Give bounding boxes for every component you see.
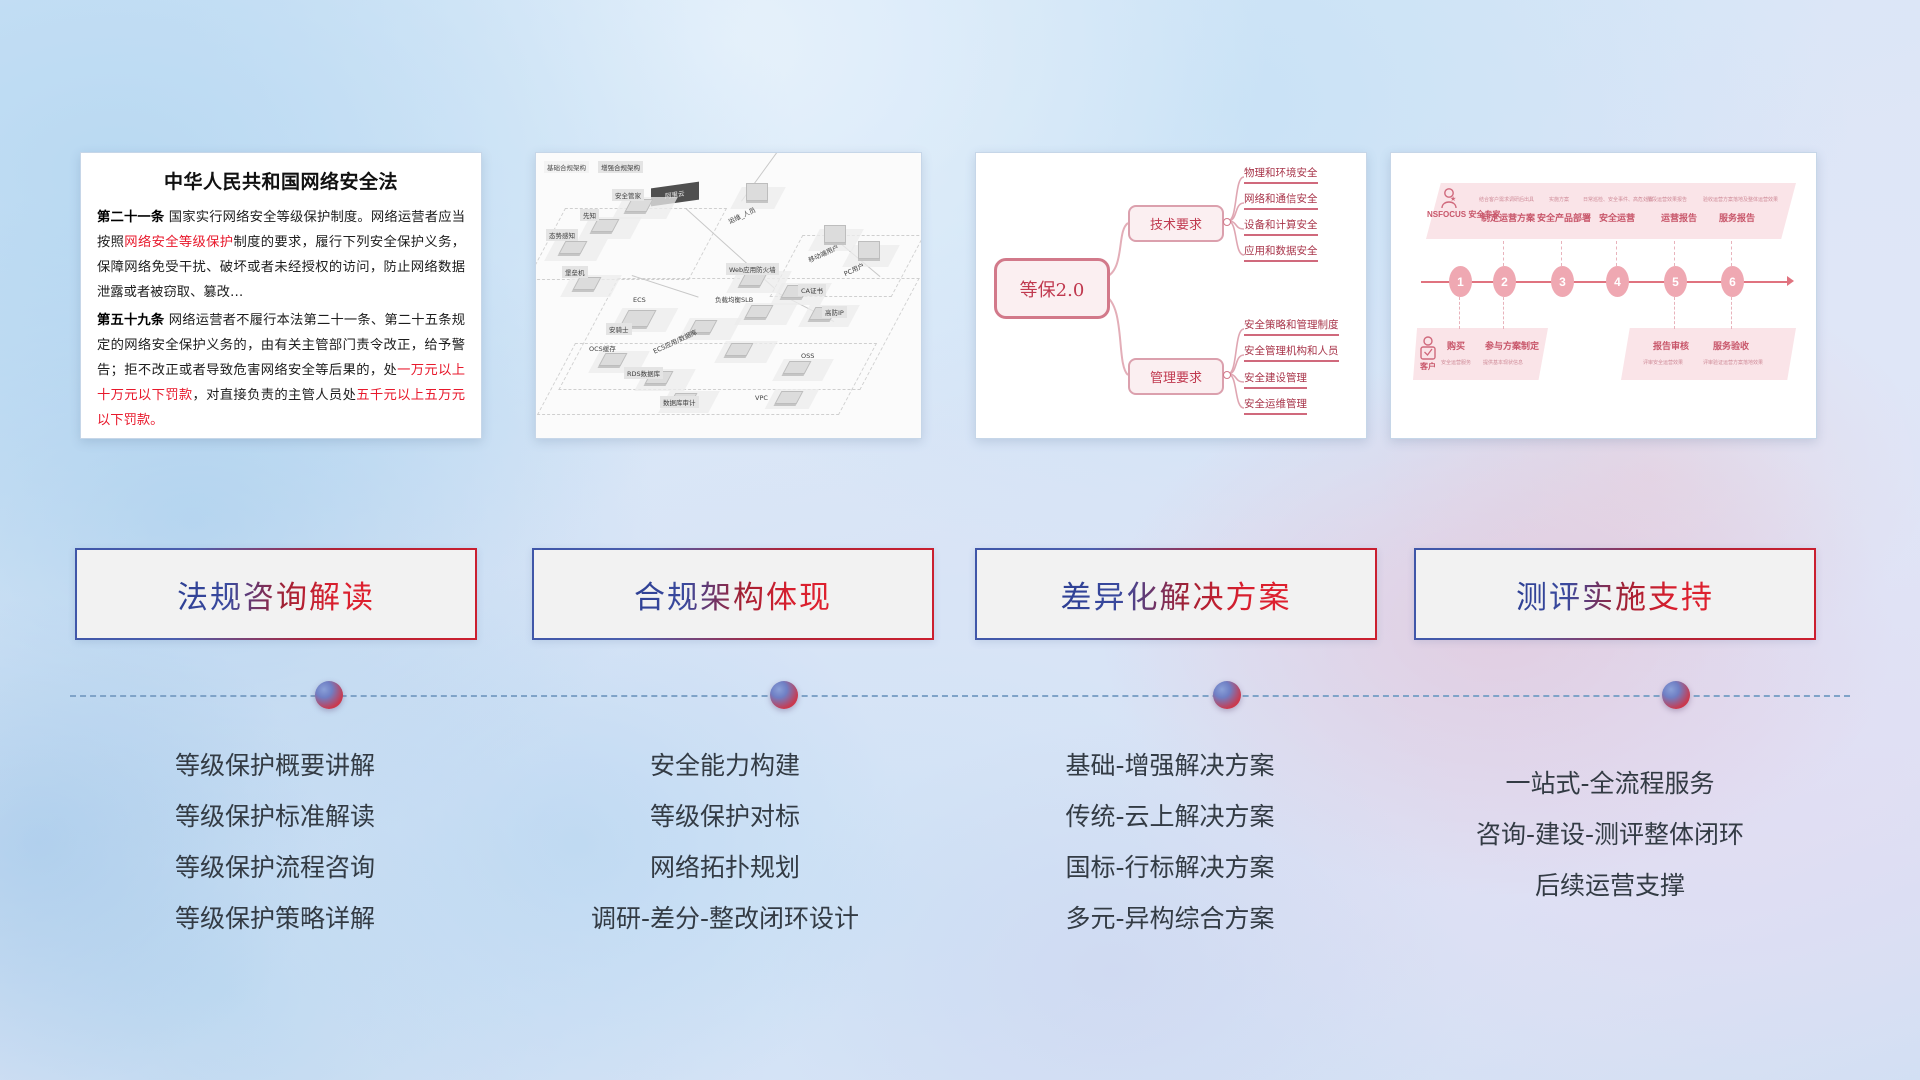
nsfocus-diagram: ★ NSFOCUS 安全专家 客户 1 2 3 4 5 6: [1391, 153, 1816, 438]
bottom-step-label-1: 购买: [1447, 339, 1465, 352]
list-item: 基础-增强解决方案: [950, 740, 1390, 791]
heading-box-architecture[interactable]: 合规架构体现: [532, 548, 934, 640]
node-ca-cert: CA证书: [798, 284, 826, 296]
timeline-node-3[interactable]: [1213, 681, 1241, 709]
node-anqishi: 安骑士: [606, 323, 632, 335]
heading-label-evaluation: 测评实施支持: [1516, 572, 1714, 617]
node-situational-awareness: 态势感知: [546, 229, 578, 241]
timeline-arrow: [1787, 276, 1794, 286]
branch-dot-management: [1223, 371, 1231, 379]
bottom-step-sub-4: 评审验证运营方案落地效果: [1703, 359, 1763, 366]
top-step-label-1: 制定运营方案: [1481, 211, 1535, 224]
top-step-sub-2: 实施方案: [1549, 196, 1569, 203]
branch-dot-technical: [1223, 218, 1231, 226]
step-circle-5: 5: [1664, 266, 1687, 297]
heading-label-solution: 差异化解决方案: [1061, 572, 1292, 617]
column-regulation: 等级保护概要讲解 等级保护标准解读 等级保护流程咨询 等级保护策略详解: [55, 740, 495, 944]
mindmap-branch-management: 管理要求: [1128, 358, 1224, 395]
list-item: 等级保护概要讲解: [55, 740, 495, 791]
cloud-architecture-card: 基础合规架构 增强合规架构 阿里云 态势感知: [535, 152, 922, 439]
law-article-1: 第二十一条: [97, 210, 164, 225]
list-item: 传统-云上解决方案: [950, 791, 1390, 842]
list-item: 等级保护对标: [505, 791, 945, 842]
list-item: 一站式-全流程服务: [1390, 758, 1830, 809]
bottom-step-label-4: 服务验收: [1713, 339, 1749, 352]
law-paragraph-1: 第二十一条 国家实行网络安全等级保护制度。网络运营者应当按照网络安全等级保护制度…: [97, 205, 465, 305]
mindmap-branch-technical: 技术要求: [1128, 205, 1224, 242]
expert-role-label: NSFOCUS 安全专家: [1427, 210, 1473, 220]
top-step-label-4: 运营报告: [1661, 211, 1697, 224]
law-article-2: 第五十九条: [97, 313, 164, 328]
customer-icon: [1417, 335, 1439, 361]
node-rds-db: RDS数据库: [624, 367, 663, 379]
top-step-label-2: 安全产品部署: [1537, 211, 1591, 224]
node-oss: OSS: [798, 351, 817, 361]
timeline: [70, 694, 1850, 698]
node-slb: 负载均衡SLB: [712, 293, 756, 305]
node-vpc: VPC: [752, 393, 771, 403]
customer-band-right: [1621, 328, 1796, 380]
heading-box-evaluation[interactable]: 测评实施支持: [1414, 548, 1816, 640]
heading-box-solution[interactable]: 差异化解决方案: [975, 548, 1377, 640]
bottom-step-label-3: 报告审核: [1653, 339, 1689, 352]
column-architecture: 安全能力构建 等级保护对标 网络拓扑规划 调研-差分-整改闭环设计: [505, 740, 945, 944]
bottom-step-sub-2: 提供基本现状信息: [1483, 359, 1523, 366]
law-seg-2-2: ，对直接负责的主管人员处: [193, 388, 357, 403]
list-item: 等级保护策略详解: [55, 893, 495, 944]
list-item: 后续运营支撑: [1390, 860, 1830, 911]
column-evaluation: 一站式-全流程服务 咨询-建设-测评整体闭环 后续运营支撑: [1390, 758, 1830, 911]
mindmap-diagram: 等保2.0 技术要求 物理和环境安全 网络和通信安全 设备和计算安全 应用和数据…: [976, 153, 1366, 438]
customer-role-label: 客户: [1415, 362, 1441, 372]
top-step-sub-3: 日常巡检、安全事件、高危处置: [1583, 196, 1653, 203]
svg-text:★: ★: [1450, 195, 1456, 203]
leaf-security-org-personnel: 安全管理机构和人员: [1244, 343, 1339, 362]
top-step-sub-1: 结合客户需求调研后出具: [1479, 196, 1534, 203]
mindmap-root: 等保2.0: [994, 258, 1110, 319]
architecture-diagram: 基础合规架构 增强合规架构 阿里云 态势感知: [536, 153, 921, 438]
step-circle-6: 6: [1721, 266, 1744, 297]
expert-icon: ★: [1437, 187, 1461, 209]
list-item: 等级保护标准解读: [55, 791, 495, 842]
node-waf: Web应用防火墙: [726, 263, 779, 275]
top-step-label-5: 服务报告: [1719, 211, 1755, 224]
leaf-app-data-security: 应用和数据安全: [1244, 243, 1318, 262]
timeline-node-2[interactable]: [770, 681, 798, 709]
node-anti-ddos-ip: 高防IP: [822, 306, 847, 318]
bottom-step-label-2: 参与方案制定: [1485, 339, 1539, 352]
leaf-security-build-mgmt: 安全建设管理: [1244, 370, 1307, 389]
list-item: 多元-异构综合方案: [950, 893, 1390, 944]
timeline-node-4[interactable]: [1662, 681, 1690, 709]
tab-enhanced[interactable]: 增强合规架构: [598, 161, 643, 173]
image-cards-row: 中华人民共和国网络安全法 第二十一条 国家实行网络安全等级保护制度。网络运营者应…: [0, 152, 1920, 452]
node-ecs: ECS: [630, 295, 649, 305]
list-item: 调研-差分-整改闭环设计: [505, 893, 945, 944]
step-circle-1: 1: [1449, 266, 1472, 297]
heading-label-architecture: 合规架构体现: [634, 572, 832, 617]
leaf-device-compute-security: 设备和计算安全: [1244, 217, 1318, 236]
step-circle-2: 2: [1493, 266, 1516, 297]
slide-content: 中华人民共和国网络安全法 第二十一条 国家实行网络安全等级保护制度。网络运营者应…: [0, 0, 1920, 1080]
leaf-security-ops-mgmt: 安全运维管理: [1244, 396, 1307, 415]
node-security-butler: 安全管家: [612, 189, 644, 201]
top-step-label-3: 安全运营: [1599, 211, 1635, 224]
leaf-physical-env-security: 物理和环境安全: [1244, 165, 1318, 184]
step-circle-3: 3: [1551, 266, 1574, 297]
timeline-node-1[interactable]: [315, 681, 343, 709]
heading-box-regulation[interactable]: 法规咨询解读: [75, 548, 477, 640]
node-xianzhi: 先知: [580, 209, 599, 221]
leaf-security-policy-system: 安全策略和管理制度: [1244, 317, 1339, 336]
mindmap-card: 等保2.0 技术要求 物理和环境安全 网络和通信安全 设备和计算安全 应用和数据…: [975, 152, 1367, 439]
step-circle-4: 4: [1606, 266, 1629, 297]
law-seg-1-1: 网络安全等级保护: [124, 235, 233, 250]
leaf-network-comm-security: 网络和通信安全: [1244, 191, 1318, 210]
list-item: 等级保护流程咨询: [55, 842, 495, 893]
detail-lists-row: 等级保护概要讲解 等级保护标准解读 等级保护流程咨询 等级保护策略详解 安全能力…: [0, 740, 1920, 1000]
law-title: 中华人民共和国网络安全法: [97, 167, 465, 194]
list-item: 国标-行标解决方案: [950, 842, 1390, 893]
column-solution: 基础-增强解决方案 传统-云上解决方案 国标-行标解决方案 多元-异构综合方案: [950, 740, 1390, 944]
top-step-sub-4: 阶段运营效果报告: [1647, 196, 1687, 203]
law-card: 中华人民共和国网络安全法 第二十一条 国家实行网络安全等级保护制度。网络运营者应…: [80, 152, 482, 439]
tab-basic[interactable]: 基础合规架构: [544, 161, 589, 173]
top-step-sub-5: 验收运营方案落地及整体运营效果: [1703, 196, 1778, 203]
list-item: 安全能力构建: [505, 740, 945, 791]
node-bastion-host: 堡垒机: [562, 266, 588, 278]
law-paragraph-2: 第五十九条 网络运营者不履行本法第二十一条、第二十五条规定的网络安全保护义务的，…: [97, 308, 465, 433]
list-item: 咨询-建设-测评整体闭环: [1390, 809, 1830, 860]
node-db-audit: 数据库审计: [660, 396, 699, 408]
bottom-step-sub-1: 安全运营服务: [1441, 359, 1471, 366]
node-ocs-cache: OCS缓存: [586, 342, 619, 354]
bottom-step-sub-3: 评审安全运营效果: [1643, 359, 1683, 366]
headings-row: 法规咨询解读 合规架构体现 差异化解决方案 测评实施支持: [0, 548, 1920, 640]
nsfocus-timeline-card: ★ NSFOCUS 安全专家 客户 1 2 3 4 5 6: [1390, 152, 1817, 439]
list-item: 网络拓扑规划: [505, 842, 945, 893]
heading-label-regulation: 法规咨询解读: [177, 572, 375, 617]
